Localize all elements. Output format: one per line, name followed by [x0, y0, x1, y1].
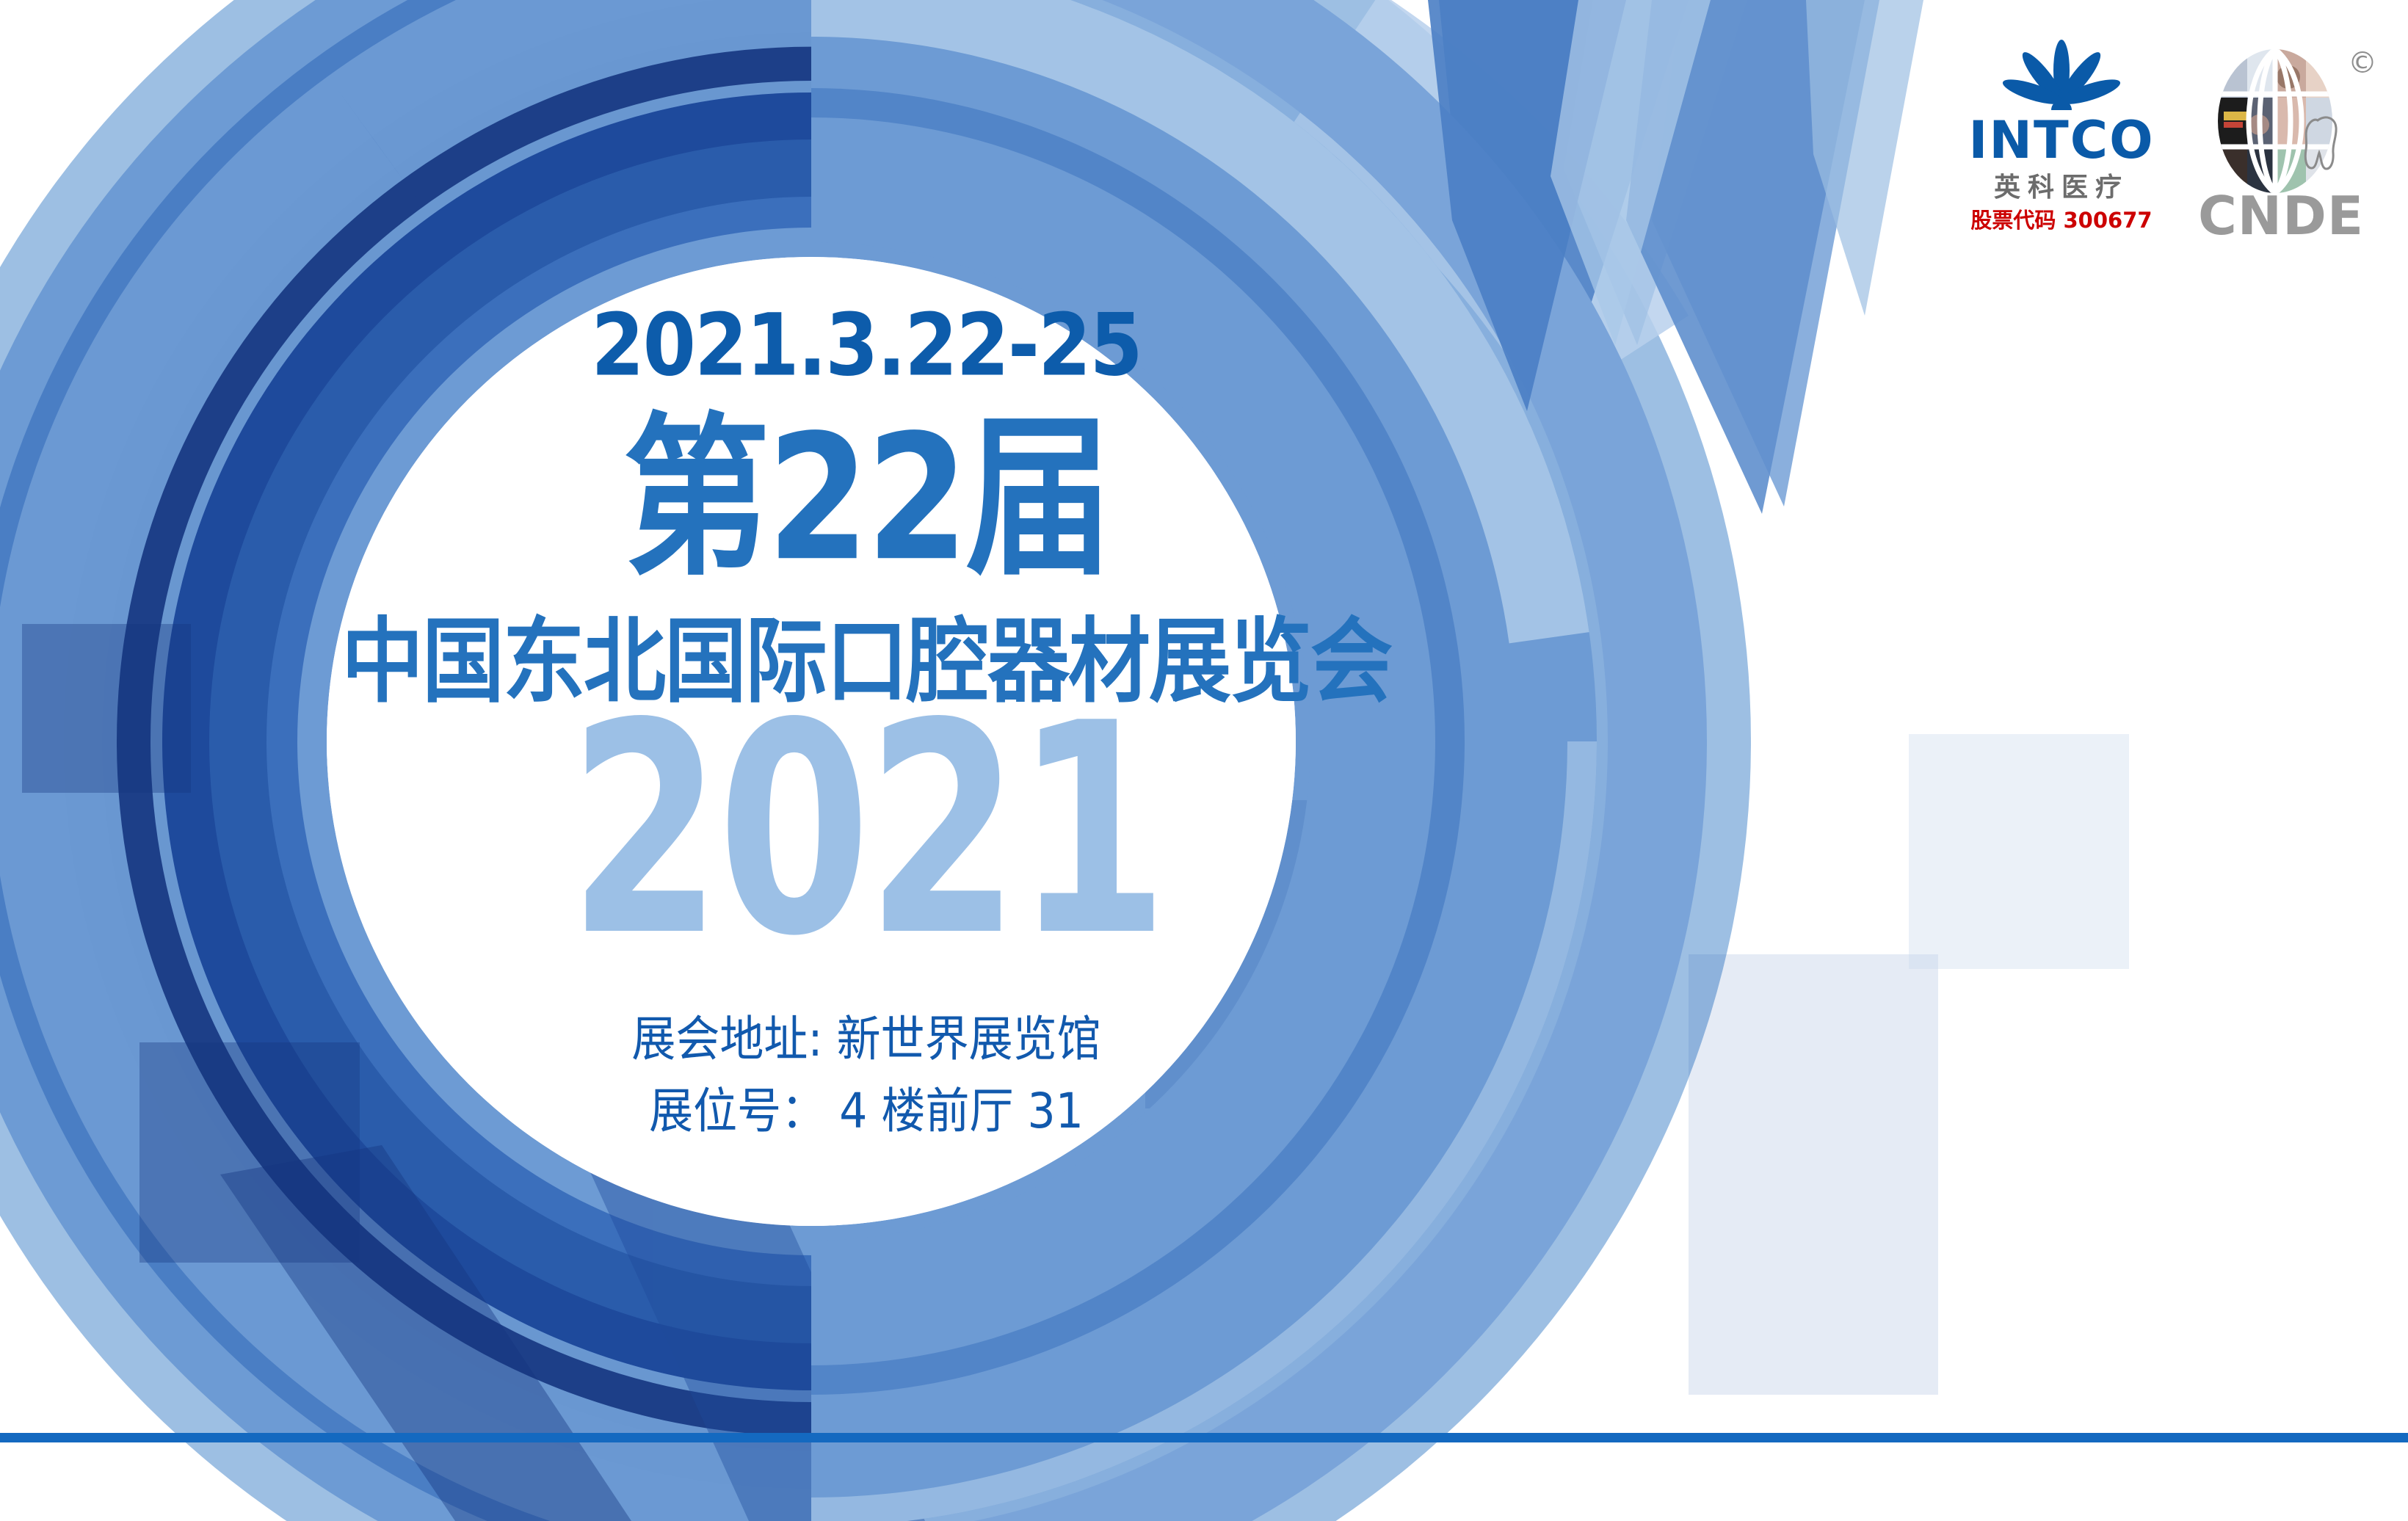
intco-stock-code: 股票代码 300677: [1970, 210, 2152, 231]
intco-logo: INTCO 英科医疗 股票代码 300677: [1951, 38, 2172, 231]
logo-cluster: INTCO 英科医疗 股票代码 300677 ©: [1951, 38, 2373, 242]
cnde-wordmark: CNDE: [2198, 189, 2364, 242]
year-watermark: 2021: [569, 686, 1164, 976]
intco-chinese-name: 英科医疗: [1994, 175, 2129, 201]
cnde-globe-icon: [2208, 44, 2354, 198]
copyright-icon: ©: [2348, 48, 2377, 78]
venue-address: 展会地址: 新世界展览馆: [631, 1015, 1100, 1064]
intco-fan-icon: [1977, 38, 2146, 112]
exhibition-date: 2021.3.22-25: [591, 302, 1141, 388]
bottom-horizontal-rule: [0, 1433, 2408, 1442]
intco-wordmark: INTCO: [1968, 115, 2154, 166]
cnde-logo: ©: [2189, 44, 2373, 242]
booth-number: 展位号： 4 楼前厅 31: [649, 1087, 1084, 1136]
poster-root: 2021.3.22-25 第22届 中国东北国际口腔器材展览会 2021 展会地…: [0, 0, 2408, 1521]
edition-title: 第22届: [623, 413, 1109, 586]
